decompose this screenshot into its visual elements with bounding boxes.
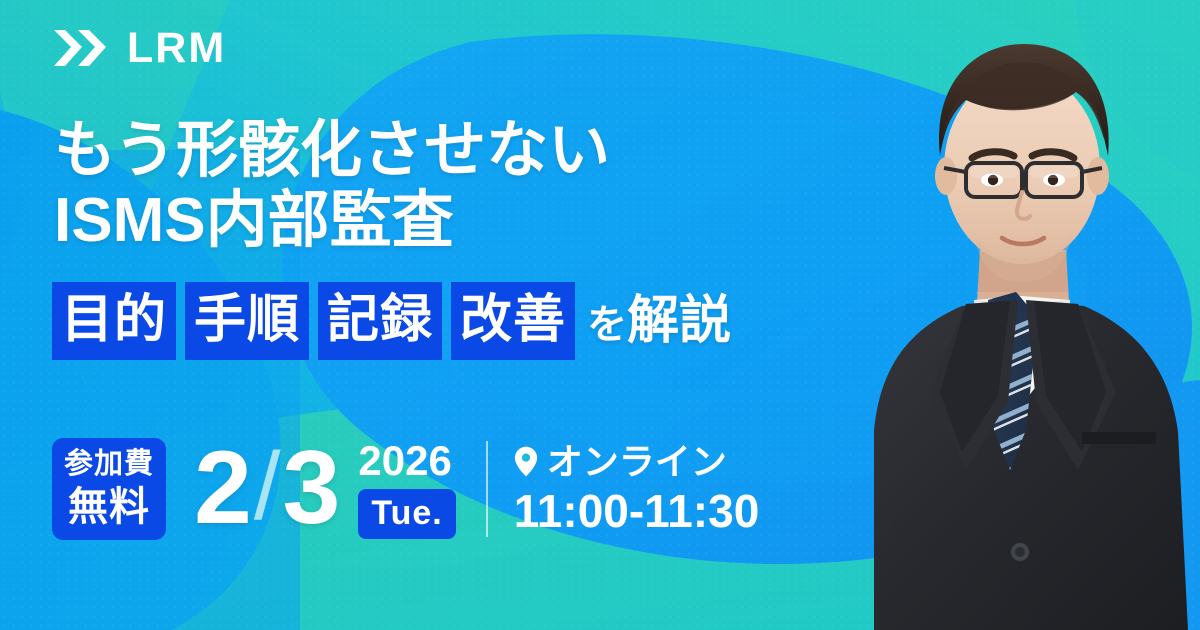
speaker-portrait: [870, 0, 1200, 630]
double-chevron-icon: [52, 26, 114, 70]
fee-badge-label: 参加費: [64, 450, 154, 479]
venue-row: オンライン: [514, 442, 760, 482]
keyword-tail: を解説: [587, 295, 731, 347]
date-day: 3: [283, 442, 341, 536]
headline-line-2: ISMS内部監査: [54, 186, 610, 256]
fee-badge-value: 無料: [64, 487, 154, 527]
keyword-badge-improve: 改善: [451, 282, 575, 360]
fee-badge: 参加費 無料: [52, 438, 166, 540]
date-year: 2026: [358, 440, 451, 482]
headline-line-1: もう形骸化させない: [54, 116, 610, 186]
keyword-badge-record: 記録: [318, 282, 442, 360]
event-date: 2 / 3 2026 Tue.: [194, 440, 456, 539]
keyword-badge-row: 目的 手順 記録 改善 を解説: [52, 282, 731, 360]
webinar-banner: LRM もう形骸化させない ISMS内部監査 目的 手順 記録 改善 を解説 参…: [0, 0, 1200, 630]
date-year-dow: 2026 Tue.: [358, 440, 455, 539]
page-title: もう形骸化させない ISMS内部監査: [54, 116, 610, 256]
event-venue-time: オンライン 11:00-11:30: [514, 442, 760, 536]
keyword-tail-word: 解説: [627, 292, 731, 350]
keyword-badge-procedure: 手順: [185, 282, 309, 360]
keyword-tail-particle: を: [587, 303, 627, 347]
date-separator: /: [254, 444, 281, 530]
event-time: 11:00-11:30: [514, 486, 760, 537]
date-month: 2: [194, 442, 252, 536]
venue-label: オンライン: [547, 442, 727, 482]
logo-text: LRM: [127, 27, 226, 70]
location-pin-icon: [514, 446, 538, 477]
event-info-bar: 参加費 無料 2 / 3 2026 Tue. オンライン 11:00-11:30: [52, 438, 759, 540]
date-day-of-week: Tue.: [358, 489, 455, 539]
keyword-badge-purpose: 目的: [52, 282, 176, 360]
speaker-portrait-art: [870, 0, 1200, 630]
brand-logo[interactable]: LRM: [52, 26, 226, 70]
info-divider: [486, 441, 488, 537]
